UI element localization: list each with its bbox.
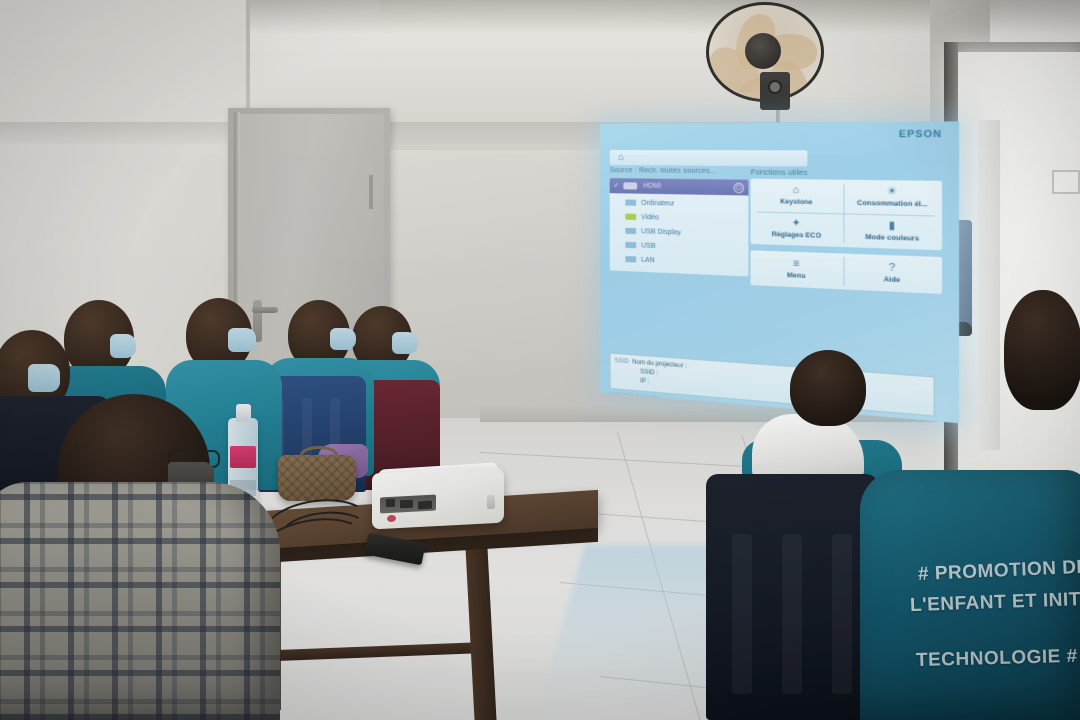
fan-hub (745, 33, 781, 69)
projector-port (386, 499, 395, 507)
brightness-icon: ☀ (887, 187, 898, 199)
chair-back-dark-right[interactable] (706, 474, 878, 720)
source-item-video[interactable]: Vidéo (625, 211, 659, 225)
tile-label: Réglages ECO (772, 231, 821, 240)
source-item-label: USB (641, 242, 655, 250)
menu-icon: ≡ (793, 259, 799, 271)
sanitizer-label (230, 446, 256, 468)
source-item-label: Ordinateur (641, 200, 674, 208)
function-tile-group-secondary: ≡ Menu ? Aide (751, 250, 942, 294)
tile-label: Keystone (780, 198, 812, 206)
ceiling-band (380, 0, 1000, 26)
shirt-print-line-3: TECHNOLOGIE # (916, 646, 1078, 672)
source-caption: Source : Rech. toutes sources... (610, 167, 717, 175)
tile-label: Consommation él... (857, 200, 927, 209)
source-item-label: HDMI (643, 178, 661, 194)
corridor-pillar (978, 120, 1000, 450)
usb-icon (625, 242, 636, 248)
hdmi-icon (623, 182, 637, 189)
source-item-ordinateur[interactable]: Ordinateur (625, 196, 674, 210)
far-right-person-head (1004, 290, 1080, 410)
info-ssid: SSID : (640, 368, 658, 377)
tile-label: Menu (787, 272, 806, 280)
projector-port (400, 500, 413, 509)
chair-slot (782, 534, 802, 694)
usb-display-icon (625, 228, 636, 234)
face-mask (330, 328, 356, 350)
chair-slot (732, 534, 752, 694)
doorway-opening (956, 52, 1080, 472)
power-icon[interactable]: ⏻ (734, 182, 745, 193)
door-handle[interactable] (252, 307, 278, 313)
sanitizer-cap[interactable] (236, 404, 251, 422)
function-tile-group-primary: ⌂ Keystone ☀ Consommation él... ✦ Réglag… (751, 179, 942, 251)
face-mask (28, 364, 60, 392)
chair-slot (832, 534, 852, 694)
face-mask (228, 328, 256, 352)
face-mask (110, 334, 136, 358)
right-person-head (790, 350, 866, 426)
source-item-label: Vidéo (641, 214, 659, 222)
brown-handbag[interactable] (278, 455, 356, 501)
useful-functions-title: Fonctions utiles (751, 167, 808, 177)
tile-aide[interactable]: ? Aide (843, 255, 942, 293)
source-list-panel: ✓ HDMI ⏻ Ordinateur Vidéo USB Display (610, 178, 749, 276)
check-icon: ✓ (614, 178, 620, 193)
door-hinge (369, 175, 373, 209)
source-item-label: LAN (641, 257, 655, 265)
projector-port (418, 501, 432, 510)
color-mode-icon: ▮ (889, 221, 895, 233)
tile-consommation-electrique[interactable]: ☀ Consommation él... (843, 180, 942, 216)
tile-keystone[interactable]: ⌂ Keystone (751, 179, 844, 214)
info-ip: IP : (640, 377, 649, 385)
computer-icon (625, 200, 636, 206)
tile-label: Mode couleurs (865, 234, 919, 243)
source-item-hdmi-selected[interactable]: ✓ HDMI ⏻ (610, 178, 749, 195)
foreground-man-plaid-shirt (0, 482, 280, 720)
home-breadcrumb-bar: ⌂ (610, 150, 808, 166)
lan-icon (625, 256, 636, 262)
home-icon: ⌂ (616, 152, 627, 163)
source-item-label: USB Display (641, 228, 681, 236)
tile-menu[interactable]: ≡ Menu (751, 251, 844, 288)
fan-mount-knob[interactable] (768, 80, 782, 94)
face-mask (392, 332, 418, 354)
projector-lens-side (487, 495, 495, 509)
projected-epson-home-screen: EPSON ⌂ Source : Rech. toutes sources...… (600, 121, 959, 423)
leaf-icon: ✦ (792, 219, 801, 231)
help-icon: ? (889, 263, 896, 275)
epson-logo: EPSON (899, 128, 942, 139)
classroom-scene: EPSON ⌂ Source : Rech. toutes sources...… (0, 0, 1080, 720)
tile-label: Aide (884, 276, 901, 284)
source-item-usb-display[interactable]: USB Display (625, 225, 680, 240)
keystone-icon: ⌂ (793, 186, 800, 198)
tile-reglages-eco[interactable]: ✦ Réglages ECO (751, 211, 844, 247)
corridor-window (1052, 170, 1080, 194)
video-icon (625, 214, 636, 220)
tile-mode-couleurs[interactable]: ▮ Mode couleurs (843, 213, 942, 250)
info-tag: SSID (615, 358, 630, 365)
source-item-usb[interactable]: USB (625, 239, 655, 253)
source-item-lan[interactable]: LAN (625, 253, 654, 267)
